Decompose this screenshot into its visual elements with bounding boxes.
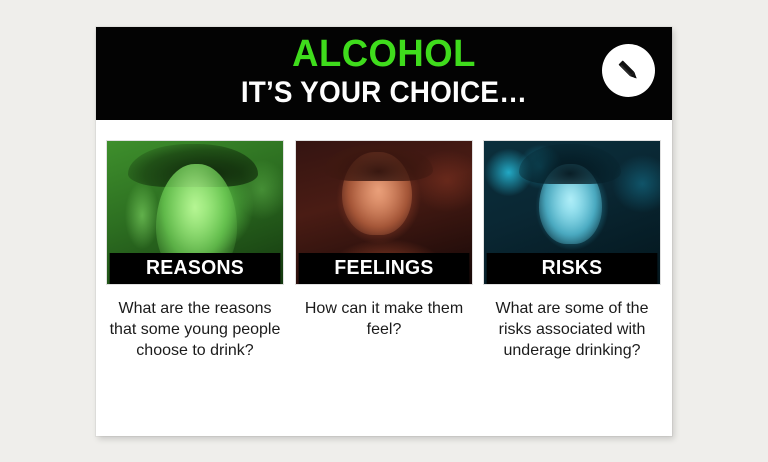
card-thumbnail[interactable]: FEELINGS <box>296 141 472 284</box>
card-feelings[interactable]: FEELINGS How can it make them feel? <box>296 141 472 340</box>
card-label: RISKS <box>487 253 658 284</box>
card-label: REASONS <box>110 253 281 284</box>
page-subtitle: IT’S YOUR CHOICE… <box>116 75 652 111</box>
cards-row: REASONS What are the reasons that some y… <box>96 120 672 436</box>
card-thumbnail[interactable]: RISKS <box>484 141 660 284</box>
card-label: FEELINGS <box>299 253 470 284</box>
slide-canvas: ALCOHOL IT’S YOUR CHOICE… REASONS What a… <box>96 27 672 436</box>
slide-header: ALCOHOL IT’S YOUR CHOICE… <box>96 27 672 120</box>
card-caption: What are some of the risks associated wi… <box>484 298 660 361</box>
card-caption: What are the reasons that some young peo… <box>107 298 283 361</box>
card-caption: How can it make them feel? <box>296 298 472 340</box>
pencil-icon[interactable] <box>602 44 655 97</box>
header-title-block: ALCOHOL IT’S YOUR CHOICE… <box>96 27 672 111</box>
card-thumbnail[interactable]: REASONS <box>107 141 283 284</box>
card-reasons[interactable]: REASONS What are the reasons that some y… <box>107 141 283 361</box>
card-risks[interactable]: RISKS What are some of the risks associa… <box>484 141 660 361</box>
page-title: ALCOHOL <box>108 33 661 75</box>
